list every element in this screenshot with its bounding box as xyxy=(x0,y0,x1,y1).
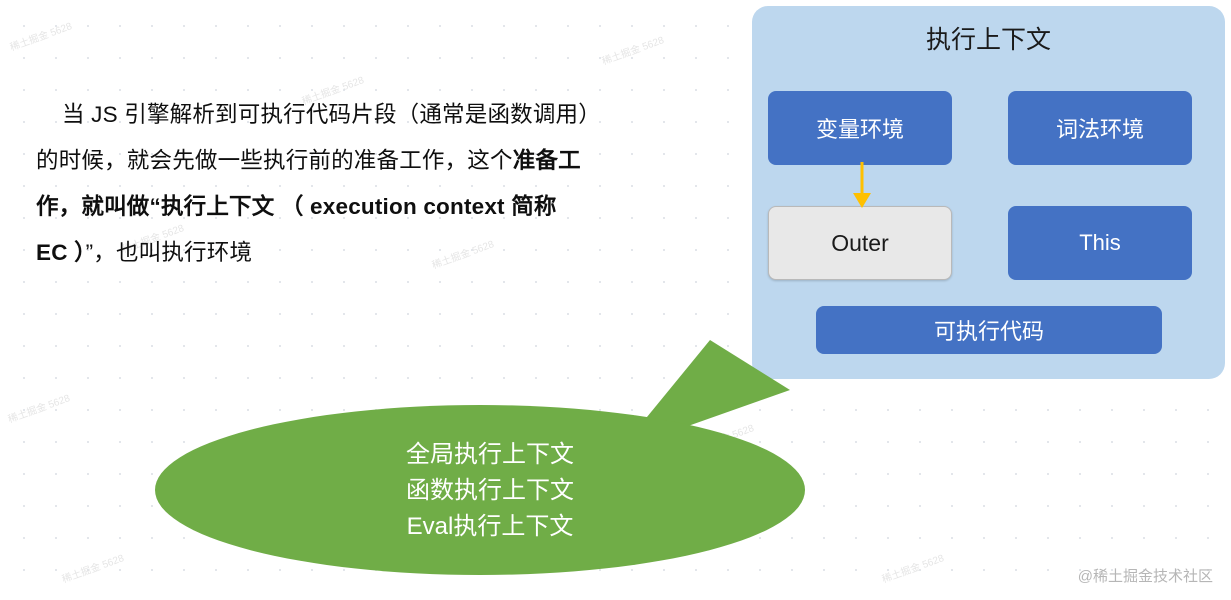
execution-context-panel: 执行上下文 变量环境 词法环境 Outer This 可执行代码 xyxy=(752,6,1225,379)
paragraph-line-1: 当 JS 引擎解析到可执行代码片段（通常是函数调用） xyxy=(62,102,601,127)
callout-line-3: Eval执行上下文 xyxy=(300,509,680,545)
callout-line-1: 全局执行上下文 xyxy=(300,437,680,473)
executable-code-box: 可执行代码 xyxy=(816,306,1162,354)
paragraph-line-2b: 准备工 xyxy=(513,148,581,173)
brand-watermark: @稀土掘金技术社区 xyxy=(1078,565,1213,586)
variable-environment-box: 变量环境 xyxy=(768,91,952,165)
paragraph-line-4a: EC ） xyxy=(36,240,86,265)
paragraph-line-2a: 的时候，就会先做一些执行前的准备工作，这个 xyxy=(36,148,513,173)
execution-context-title: 执行上下文 xyxy=(752,20,1225,56)
outer-box: Outer xyxy=(768,206,952,280)
paragraph-line-4b: ”，也叫执行环境 xyxy=(86,240,253,265)
paragraph-line-3b: 执行上下文 （ execution context 简称 xyxy=(161,194,557,219)
description-paragraph: 当 JS 引擎解析到可执行代码片段（通常是函数调用） 的时候，就会先做一些执行前… xyxy=(36,92,696,276)
paragraph-line-3a: 作，就叫做“ xyxy=(36,194,161,219)
down-arrow-icon xyxy=(844,162,880,210)
lexical-environment-box: 词法环境 xyxy=(1008,91,1192,165)
this-box: This xyxy=(1008,206,1192,280)
diagram-canvas: 稀土掘金 5628 稀土掘金 5628 稀土掘金 5628 稀土掘金 5628 … xyxy=(0,0,1231,600)
callout-text: 全局执行上下文 函数执行上下文 Eval执行上下文 xyxy=(300,437,680,545)
callout-line-2: 函数执行上下文 xyxy=(300,473,680,509)
